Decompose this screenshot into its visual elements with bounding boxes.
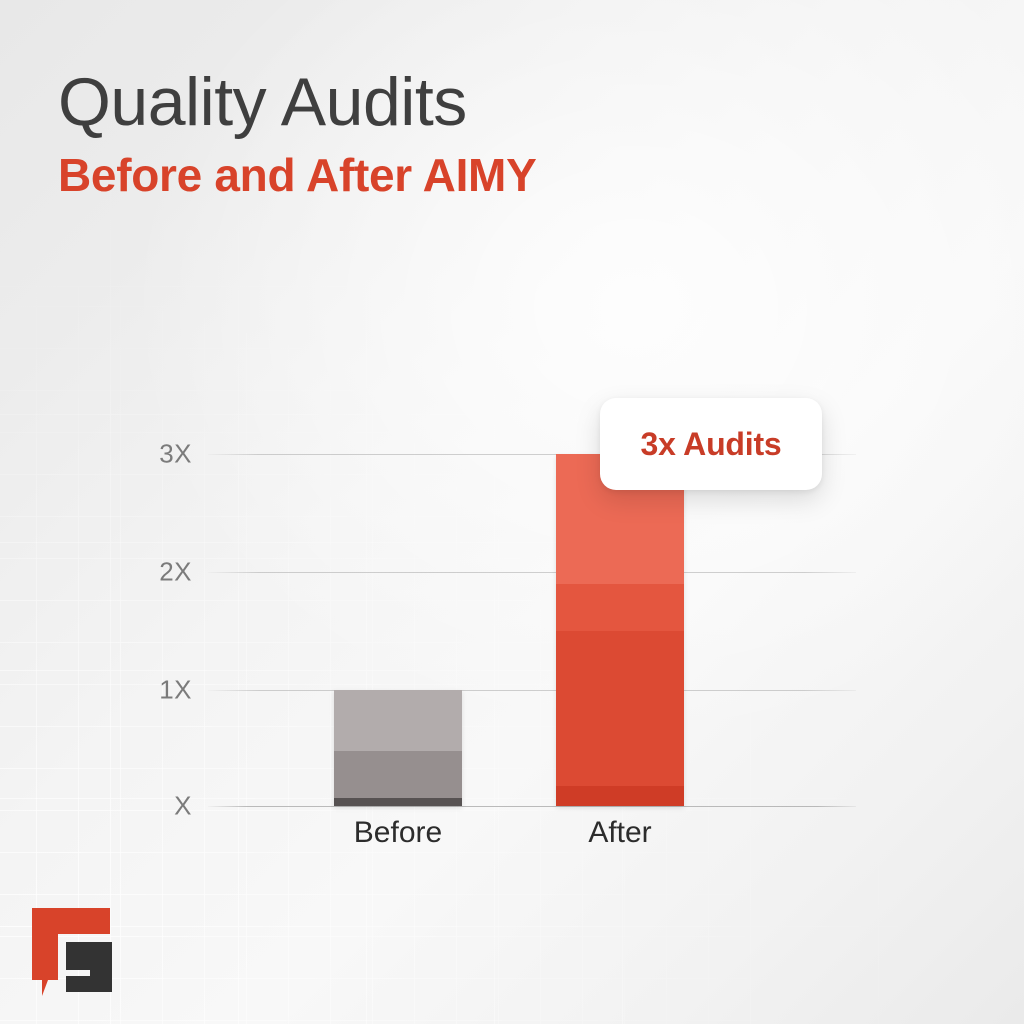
y-axis-tick-label: 1X	[72, 675, 192, 706]
aimy-logo-icon	[30, 906, 116, 1006]
page-subtitle: Before and After AIMY	[58, 151, 818, 199]
bar-before[interactable]	[334, 690, 462, 806]
y-axis-tick-label: X	[72, 791, 192, 822]
gridline	[208, 572, 856, 573]
x-axis-label-before: Before	[268, 816, 528, 850]
y-axis-tick-label: 2X	[72, 557, 192, 588]
callout-3x-audits[interactable]: 3x Audits	[600, 398, 822, 490]
bar-segment	[556, 584, 684, 631]
callout-label: 3x Audits	[640, 426, 781, 463]
x-axis-label-after: After	[490, 816, 750, 850]
bar-segment	[334, 798, 462, 806]
page-title: Quality Audits	[58, 68, 818, 137]
bar-segment	[334, 751, 462, 797]
heading-block: Quality Audits Before and After AIMY	[58, 68, 818, 200]
gridline	[208, 690, 856, 691]
bar-segment	[556, 631, 684, 786]
bar-segment	[334, 690, 462, 751]
gridline	[208, 806, 856, 807]
bar-segment	[556, 786, 684, 806]
aimy-logo	[30, 906, 116, 1006]
bar-after[interactable]	[556, 454, 684, 806]
y-axis-tick-label: 3X	[72, 439, 192, 470]
infographic-canvas: Quality Audits Before and After AIMY 3X2…	[0, 0, 1024, 1024]
